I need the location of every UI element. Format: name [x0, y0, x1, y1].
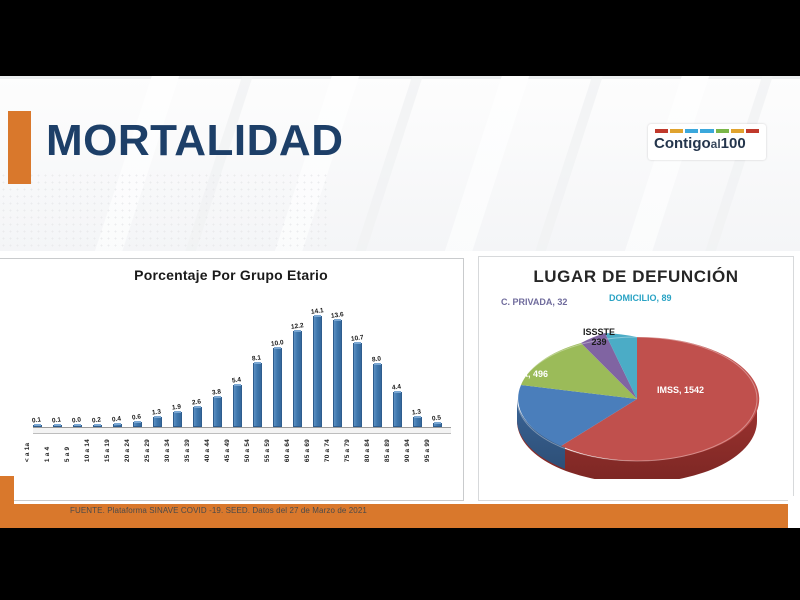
- pie-label-issste: ISSSTE239: [579, 327, 619, 347]
- bar-x-tick-label: 40 a 44: [204, 439, 211, 462]
- bar-x-tick-label: 50 a 54: [244, 439, 251, 462]
- logo-word-al: al: [711, 137, 721, 151]
- bar: [293, 331, 302, 427]
- bar-x-tick: 15 a 19: [97, 439, 117, 462]
- logo-dash-6: [731, 129, 744, 133]
- bar-column: 10.0: [267, 289, 287, 427]
- bar-x-tick: 20 a 24: [117, 439, 137, 462]
- bar-column: 0.1: [47, 289, 67, 427]
- bar-x-tick-label: 15 a 19: [104, 439, 111, 462]
- bar-column: 1.3: [407, 289, 427, 427]
- bar-chart-title: Porcentaje Por Grupo Etario: [0, 267, 463, 283]
- bar-x-tick: 65 a 69: [297, 439, 317, 462]
- pie-label-issste-value: 239: [591, 337, 606, 347]
- decor-dot-pattern: [0, 172, 330, 251]
- bar-x-tick: 30 a 34: [157, 439, 177, 462]
- bar-x-tick-label: 65 a 69: [304, 439, 311, 462]
- bar-x-tick: 25 a 29: [137, 439, 157, 462]
- decor-diagonal-5: [421, 76, 545, 251]
- contigo-al-100-logo: Contigoal100: [648, 124, 766, 160]
- logo-word-100: 100: [721, 135, 746, 152]
- pie-label-c-privada: C. PRIVADA, 32: [501, 297, 567, 307]
- bar-x-tick-label: 95 a 99: [424, 439, 431, 462]
- charts-row: Porcentaje Por Grupo Etario 0.10.10.00.2…: [0, 256, 800, 504]
- bar-x-tick: 35 a 39: [177, 439, 197, 462]
- pie-label-domicilio: DOMICILIO, 89: [609, 293, 672, 303]
- bar-chart: 0.10.10.00.20.40.61.31.92.63.85.48.110.0…: [17, 289, 449, 459]
- bar: [253, 363, 262, 427]
- bar-plot-area: 0.10.10.00.20.40.61.31.92.63.85.48.110.0…: [27, 289, 447, 427]
- title-accent-bar: [8, 111, 31, 184]
- bar-column: 0.4: [107, 289, 127, 427]
- bar: [173, 412, 182, 427]
- pie-label-issste-name: ISSSTE: [583, 327, 615, 337]
- bar-x-tick: 60 a 64: [277, 439, 297, 462]
- screenshot-canvas: MORTALIDAD Contigoal100 Porcentaje Por G…: [0, 0, 800, 600]
- bar-column: 8.0: [367, 289, 387, 427]
- logo-word-contigo: Contigo: [654, 135, 711, 152]
- bar-column: 4.4: [387, 289, 407, 427]
- pie-chart-graphic: [509, 307, 765, 479]
- bar-x-tick-label: 70 a 74: [324, 439, 331, 462]
- presentation-slide: MORTALIDAD Contigoal100 Porcentaje Por G…: [0, 76, 800, 528]
- bar-x-axis: [33, 427, 451, 428]
- logo-dash-3: [685, 129, 698, 133]
- bar-x-tick: 80 a 84: [357, 439, 377, 462]
- bar-series: 0.10.10.00.20.40.61.31.92.63.85.48.110.0…: [27, 289, 447, 427]
- bar: [153, 417, 162, 427]
- pie-label-imss: IMSS, 1542: [657, 385, 704, 395]
- bar-column: 5.4: [227, 289, 247, 427]
- pie-chart-panel: LUGAR DE DEFUNCIÓN: [478, 256, 794, 501]
- bar-x-tick-label: 45 a 49: [224, 439, 231, 462]
- bar-x-tick-label: 10 a 14: [84, 439, 91, 462]
- bar-x-tick-label: 30 a 34: [164, 439, 171, 462]
- letterbox-top: [0, 0, 800, 76]
- bar-x-tick: 85 a 89: [377, 439, 397, 462]
- bar-chart-panel: Porcentaje Por Grupo Etario 0.10.10.00.2…: [0, 258, 464, 501]
- bar-column: 0.2: [87, 289, 107, 427]
- bar: [393, 392, 402, 427]
- bar-x-tick: 70 a 74: [317, 439, 337, 462]
- bar-column: 0.1: [27, 289, 47, 427]
- bar-x-tick: 50 a 54: [237, 439, 257, 462]
- decor-diagonal-6: [511, 76, 619, 251]
- logo-dash-1: [655, 129, 668, 133]
- bar-column: 1.9: [167, 289, 187, 427]
- bar-column: 10.7: [347, 289, 367, 427]
- bar: [193, 407, 202, 427]
- pie-chart-title: LUGAR DE DEFUNCIÓN: [479, 267, 793, 287]
- bar-column: 12.2: [287, 289, 307, 427]
- bar-x-tick-label: 55 a 59: [264, 439, 271, 462]
- logo-dash-row: [655, 129, 759, 133]
- bar-x-tick: 95 a 99: [417, 439, 437, 462]
- bar: [353, 343, 362, 427]
- logo-dash-7: [746, 129, 759, 133]
- bar-column: 0.5: [427, 289, 447, 427]
- bar-x-tick-label: 85 a 89: [384, 439, 391, 462]
- decor-diagonal-7: [601, 76, 725, 251]
- pie-label-issea: ISSEA, 496: [501, 369, 548, 379]
- bar-column: 8.1: [247, 289, 267, 427]
- bar-x-tick-label: 80 a 84: [364, 439, 371, 462]
- bar-column: 3.8: [207, 289, 227, 427]
- source-note: FUENTE. Plataforma SINAVE COVID -19. SEE…: [70, 506, 367, 515]
- bar-x-tick-label: 60 a 64: [284, 439, 291, 462]
- logo-wordmark: Contigoal100: [654, 136, 760, 152]
- bar-x-tick: 55 a 59: [257, 439, 277, 462]
- bar: [413, 417, 422, 427]
- bar-x-tick-label: 1 a 4: [44, 439, 51, 462]
- bar-x-tick: 75 a 79: [337, 439, 357, 462]
- bar-x-tick: 1 a 4: [37, 439, 57, 462]
- slide-header: MORTALIDAD Contigoal100: [0, 76, 800, 251]
- bar-x-tick-label: 75 a 79: [344, 439, 351, 462]
- bar: [373, 364, 382, 427]
- bar-column: 0.0: [67, 289, 87, 427]
- bar: [333, 320, 342, 427]
- bar-x-tick: 45 a 49: [217, 439, 237, 462]
- bar-x-tick: 90 a 94: [397, 439, 417, 462]
- bar-x-tick: < a 1a: [17, 439, 37, 462]
- bar: [213, 397, 222, 427]
- footer-right-edge: [788, 496, 800, 528]
- footer-left-edge: [0, 476, 14, 504]
- bar-column: 1.3: [147, 289, 167, 427]
- bar: [273, 348, 282, 427]
- logo-dash-2: [670, 129, 683, 133]
- bar-column: 2.6: [187, 289, 207, 427]
- bar-x-tick-label: < a 1a: [24, 439, 31, 462]
- pie-chart: C. PRIVADA, 32 DOMICILIO, 89 ISSSTE239 I…: [479, 293, 795, 493]
- bar-x-tick-label: 90 a 94: [404, 439, 411, 462]
- bar-x-tick-labels: < a 1a1 a 45 a 910 a 1415 a 1920 a 2425 …: [17, 439, 437, 462]
- logo-dash-5: [716, 129, 729, 133]
- bar-column: 14.1: [307, 289, 327, 427]
- bar-x-tick: 5 a 9: [57, 439, 77, 462]
- page-title: MORTALIDAD: [46, 119, 343, 163]
- bar-column: 13.6: [327, 289, 347, 427]
- logo-dash-4: [700, 129, 713, 133]
- bar: [313, 316, 322, 427]
- bar-x-tick-label: 5 a 9: [64, 439, 71, 462]
- bar-x-tick: 40 a 44: [197, 439, 217, 462]
- bar: [233, 385, 242, 427]
- bar-x-tick-label: 20 a 24: [124, 439, 131, 462]
- bar-column: 0.6: [127, 289, 147, 427]
- bar-x-tick-label: 35 a 39: [184, 439, 191, 462]
- letterbox-bottom: [0, 528, 800, 600]
- bar-x-tick: 10 a 14: [77, 439, 97, 462]
- bar-x-tick-label: 25 a 29: [144, 439, 151, 462]
